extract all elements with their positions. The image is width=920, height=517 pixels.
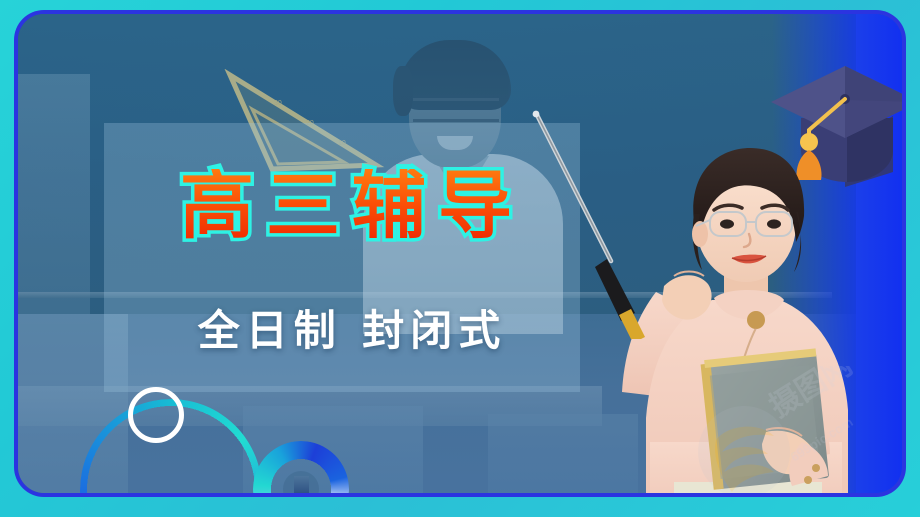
decorative-ring-small [128,387,184,443]
headline-block: 高三辅导 高三辅导 [122,169,582,243]
poster-inner-card: 30 20 10 [18,14,902,493]
ruler-tick-0: 30 [274,100,282,107]
page-title: 高三辅导 [122,169,582,243]
pointer-stick-icon [523,109,683,339]
background-male-teacher-glasses [413,98,499,122]
page-subtitle: 全日制 封闭式 [122,297,582,358]
decorative-donut-mark [294,476,309,493]
background-window [18,74,90,324]
poster-canvas: 30 20 10 [0,0,920,517]
